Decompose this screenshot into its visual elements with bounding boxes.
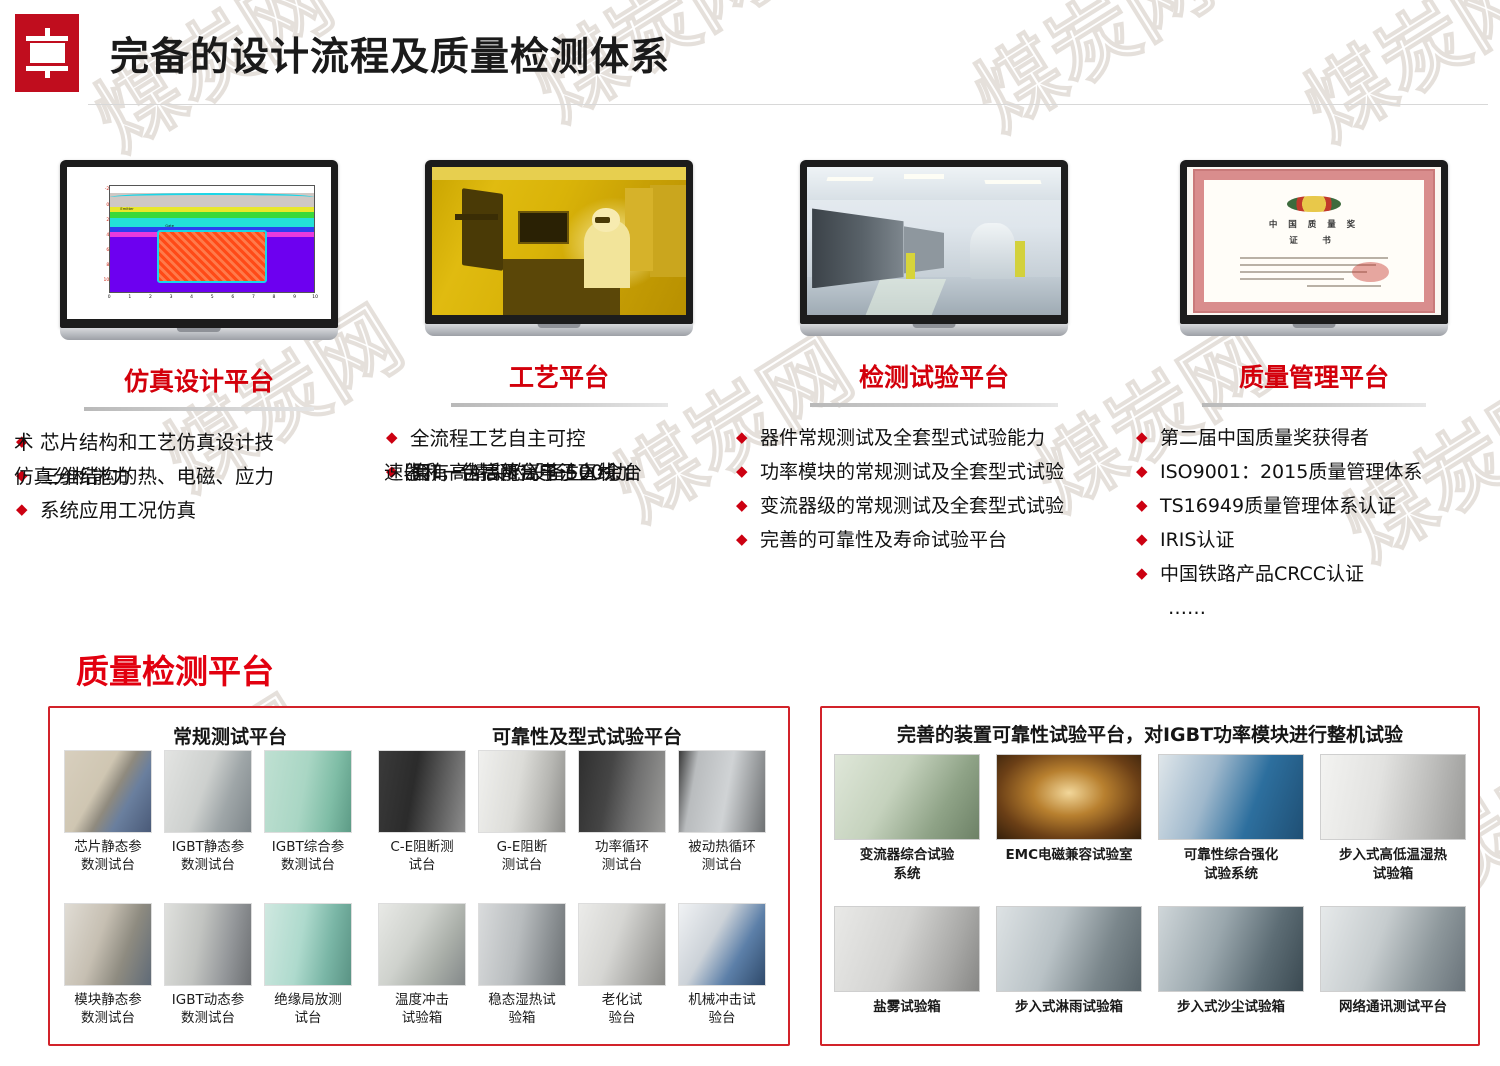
thumbnail-cell[interactable]: 变流器综合试验 系统 — [834, 754, 980, 884]
thumbnail-cell[interactable]: 稳态湿热试 验箱 — [478, 903, 566, 1027]
thumbnail-cell[interactable]: 绝缘局放测 试台 — [264, 903, 352, 1027]
group-title-reliability-test: 可靠性及型式试验平台 — [402, 722, 772, 749]
thumbnail-caption: 变流器综合试验 系统 — [834, 846, 980, 884]
bullet-item: TS16949质量管理体系认证 — [1134, 491, 1494, 522]
thumbnail-caption: 老化试 验台 — [578, 991, 666, 1027]
igbt-dynamic-parameter-test-bench[interactable] — [164, 903, 252, 986]
panel-device-reliability-right: 完善的装置可靠性试验平台，对IGBT功率模块进行整机试验 变流器综合试验 系统 … — [820, 706, 1480, 1046]
bullet-item: 系统应用工况仿真 — [14, 495, 384, 526]
test-lab-corridor-photo — [807, 167, 1061, 315]
column-title-test: 检测试验平台 — [734, 358, 1134, 394]
laptop-lid: 中 国 质 量 奖 证 书 — [1180, 160, 1448, 324]
chip-static-parameter-test-bench[interactable] — [64, 750, 152, 833]
thumbnail-caption: 稳态湿热试 验箱 — [478, 991, 566, 1027]
steady-damp-heat-test-chamber[interactable] — [478, 903, 566, 986]
thumbnail-caption: 步入式高低温湿热 试验箱 — [1320, 846, 1466, 884]
bullet-item: 全流程工艺自主可控 — [384, 423, 734, 454]
thumbnail-caption: 可靠性综合强化 试验系统 — [1158, 846, 1304, 884]
slide-header: 完备的设计流程及质量检测体系 — [0, 0, 1500, 112]
thumbnail-row-4: 盐雾试验箱 步入式淋雨试验箱 步入式沙尘试验箱 网络通讯测试平台 — [834, 906, 1466, 1017]
bullet-item: 完善的可靠性及寿命试验平台 — [734, 525, 1134, 556]
page-title: 完备的设计流程及质量检测体系 — [110, 26, 670, 82]
bullet-item-ellipsis: …… — [1134, 593, 1494, 624]
bullet-list-test: 器件常规测试及全套型式试验能力 功率模块的常规测试及全套型式试验 变流器级的常规… — [734, 423, 1134, 556]
certificate-seal-icon — [1287, 196, 1340, 213]
column-simulation-platform: -202 468 10 Emitter G — [14, 160, 384, 529]
laptop-mockup-simulation: -202 468 10 Emitter G — [60, 160, 338, 340]
column-divider — [1202, 403, 1425, 407]
thumbnail-cell[interactable]: 网络通讯测试平台 — [1320, 906, 1466, 1017]
header-divider — [88, 104, 1488, 105]
tcad-plot-area: Emitter Gate — [109, 185, 315, 293]
slide-root: 煤炭网 煤炭网 煤炭网 煤炭网 煤炭网 煤炭网 煤炭网 煤炭网 煤炭网 煤炭网 … — [0, 0, 1500, 1066]
thumbnail-caption: 功率循环 测试台 — [578, 838, 666, 874]
bullet-item-cont: 速器和一台高能离子注入机 — [384, 457, 734, 488]
thumbnail-cell[interactable]: 功率循环 测试台 — [578, 750, 666, 874]
thumbnail-caption: G-E阻断 测试台 — [478, 838, 566, 874]
column-title-simulation: 仿真设计平台 — [14, 362, 384, 398]
laptop-lid — [425, 160, 693, 324]
thumbnail-caption: 温度冲击 试验箱 — [378, 991, 466, 1027]
thumbnail-caption: IGBT动态参 数测试台 — [164, 991, 252, 1027]
panel-quality-testing-left: 常规测试平台 可靠性及型式试验平台 芯片静态参 数测试台 IGBT静态参 数测试… — [48, 706, 790, 1046]
tcad-simulation-screenshot: -202 468 10 Emitter G — [67, 167, 331, 319]
bullet-list-quality: 第二届中国质量奖获得者 ISO9001：2015质量管理体系 TS16949质量… — [1134, 423, 1494, 624]
laptop-base — [425, 324, 693, 336]
china-quality-award-certificate: 中 国 质 量 奖 证 书 — [1187, 167, 1441, 315]
thumbnail-cell[interactable]: IGBT静态参 数测试台 — [164, 750, 252, 874]
crrc-logo — [15, 14, 79, 92]
walk-in-rain-test-chamber[interactable] — [996, 906, 1142, 992]
thumbnail-row-1: 芯片静态参 数测试台 IGBT静态参 数测试台 IGBT综合参 数测试台 C-E… — [64, 750, 766, 874]
thumbnail-row-2: 模块静态参 数测试台 IGBT动态参 数测试台 绝缘局放测 试台 温度冲击 试验… — [64, 903, 766, 1027]
ce-blocking-test-bench[interactable] — [378, 750, 466, 833]
thumbnail-cell[interactable]: 老化试 验台 — [578, 903, 666, 1027]
column-test-platform: 检测试验平台 器件常规测试及全套型式试验能力 功率模块的常规测试及全套型式试验 … — [734, 160, 1134, 559]
thumbnail-cell[interactable]: 步入式沙尘试验箱 — [1158, 906, 1304, 1017]
bullet-item: 第二届中国质量奖获得者 — [1134, 423, 1494, 454]
bullet-item: 器件常规测试及全套型式试验能力 — [734, 423, 1134, 454]
thumbnail-cell[interactable]: 可靠性综合强化 试验系统 — [1158, 754, 1304, 884]
laptop-mockup-process — [425, 160, 693, 336]
thumbnail-caption: 芯片静态参 数测试台 — [64, 838, 152, 874]
thumbnail-cell[interactable]: 被动热循环 测试台 — [678, 750, 766, 874]
power-cycling-test-bench[interactable] — [578, 750, 666, 833]
thumbnail-cell[interactable]: IGBT综合参 数测试台 — [264, 750, 352, 874]
mechanical-shock-test-bench[interactable] — [678, 903, 766, 986]
bullet-item: 中国铁路产品CRCC认证 — [1134, 559, 1494, 590]
panel-right-title: 完善的装置可靠性试验平台，对IGBT功率模块进行整机试验 — [822, 708, 1478, 747]
thumbnail-cell[interactable]: IGBT动态参 数测试台 — [164, 903, 252, 1027]
thumbnail-cell[interactable]: 步入式高低温湿热 试验箱 — [1320, 754, 1466, 884]
module-static-parameter-test-bench[interactable] — [64, 903, 152, 986]
thumbnail-cell[interactable]: 芯片静态参 数测试台 — [64, 750, 152, 874]
passive-thermal-cycling-test-bench[interactable] — [678, 750, 766, 833]
bullet-item-cont: 术 — [14, 427, 384, 458]
thumbnail-cell[interactable]: C-E阻断测 试台 — [378, 750, 466, 874]
thumbnail-cell[interactable]: 温度冲击 试验箱 — [378, 903, 466, 1027]
thumbnail-caption: 绝缘局放测 试台 — [264, 991, 352, 1027]
thermal-shock-test-chamber[interactable] — [378, 903, 466, 986]
bullet-list-simulation: 芯片结构和工艺仿真设计技 术 三维结构的热、电磁、应力 仿真分析能力 系统应用工… — [14, 427, 384, 526]
thumbnail-caption: 步入式淋雨试验箱 — [996, 998, 1142, 1017]
igbt-static-parameter-test-bench[interactable] — [164, 750, 252, 833]
certificate-frame: 中 国 质 量 奖 证 书 — [1195, 171, 1434, 310]
column-process-platform: 工艺平台 全流程工艺自主可控 拥有高精尖的设备500余台 （套），包括两台电子直… — [384, 160, 734, 491]
crrc-logo-glyph — [24, 28, 70, 78]
bullet-list-process: 全流程工艺自主可控 拥有高精尖的设备500余台 （套），包括两台电子直线加 速器… — [384, 423, 734, 488]
laptop-base — [1180, 324, 1448, 336]
column-divider — [84, 407, 313, 411]
walk-in-temperature-humidity-chamber[interactable] — [1320, 754, 1466, 840]
thumbnail-caption: C-E阻断测 试台 — [378, 838, 466, 874]
column-title-process: 工艺平台 — [384, 358, 734, 394]
thumbnail-cell[interactable]: 模块静态参 数测试台 — [64, 903, 152, 1027]
thumbnail-caption: 盐雾试验箱 — [834, 998, 980, 1017]
laptop-screen: -202 468 10 Emitter G — [67, 167, 331, 319]
thumbnail-caption: 模块静态参 数测试台 — [64, 991, 152, 1027]
thumbnail-caption: 步入式沙尘试验箱 — [1158, 998, 1304, 1017]
certificate-red-stamp-icon — [1352, 262, 1390, 283]
laptop-screen — [432, 167, 686, 315]
thumbnail-cell[interactable]: G-E阻断 测试台 — [478, 750, 566, 874]
cleanroom-photo — [432, 167, 686, 315]
column-divider — [451, 403, 668, 407]
thumbnail-caption: IGBT静态参 数测试台 — [164, 838, 252, 874]
laptop-screen: 中 国 质 量 奖 证 书 — [1187, 167, 1441, 315]
bullet-item: IRIS认证 — [1134, 525, 1494, 556]
tcad-gate-region — [157, 230, 267, 283]
column-title-quality: 质量管理平台 — [1134, 358, 1494, 394]
laptop-screen — [807, 167, 1061, 315]
ge-blocking-test-bench[interactable] — [478, 750, 566, 833]
converter-integrated-test-system[interactable] — [834, 754, 980, 840]
bullet-item: ISO9001：2015质量管理体系 — [1134, 457, 1494, 488]
laptop-lid — [800, 160, 1068, 324]
thumbnail-row-3: 变流器综合试验 系统 EMC电磁兼容试验室 可靠性综合强化 试验系统 步入式高低… — [834, 754, 1466, 884]
certificate-line-2: 证 书 — [1289, 234, 1339, 246]
thumbnail-cell[interactable]: 机械冲击试 验台 — [678, 903, 766, 1027]
tcad-x-axis: 012 345 678 910 — [109, 295, 315, 309]
emc-anechoic-chamber[interactable] — [996, 754, 1142, 840]
certificate-line-1: 中 国 质 量 奖 — [1269, 218, 1359, 230]
thumbnail-cell[interactable]: EMC电磁兼容试验室 — [996, 754, 1142, 884]
group-title-routine-test: 常规测试平台 — [62, 722, 398, 749]
reliability-integrated-stress-test-system[interactable] — [1158, 754, 1304, 840]
laptop-lid: -202 468 10 Emitter G — [60, 160, 338, 328]
bullet-item: 功率模块的常规测试及全套型式试验 — [734, 457, 1134, 488]
section-title-quality-testing: 质量检测平台 — [76, 645, 274, 693]
column-divider — [810, 403, 1058, 407]
thumbnail-cell[interactable]: 步入式淋雨试验箱 — [996, 906, 1142, 1017]
salt-spray-test-chamber[interactable] — [834, 906, 980, 992]
insulation-partial-discharge-test-bench[interactable] — [264, 903, 352, 986]
thumbnail-caption: IGBT综合参 数测试台 — [264, 838, 352, 874]
bullet-item-cont: 仿真分析能力 — [14, 461, 384, 492]
thumbnail-caption: 网络通讯测试平台 — [1320, 998, 1466, 1017]
laptop-base — [60, 328, 338, 340]
column-quality-platform: 中 国 质 量 奖 证 书 质量管理平 — [1134, 160, 1494, 627]
laptop-mockup-test — [800, 160, 1068, 336]
tcad-y-axis: -202 468 10 — [88, 185, 109, 293]
network-communication-test-platform[interactable] — [1320, 906, 1466, 992]
thumbnail-caption: 机械冲击试 验台 — [678, 991, 766, 1027]
aging-test-bench[interactable] — [578, 903, 666, 986]
thumbnail-caption: EMC电磁兼容试验室 — [996, 846, 1142, 865]
thumbnail-cell[interactable]: 盐雾试验箱 — [834, 906, 980, 1017]
thumbnail-caption: 被动热循环 测试台 — [678, 838, 766, 874]
laptop-base — [800, 324, 1068, 336]
igbt-comprehensive-parameter-test-bench[interactable] — [264, 750, 352, 833]
bullet-item: 变流器级的常规测试及全套型式试验 — [734, 491, 1134, 522]
laptop-mockup-quality: 中 国 质 量 奖 证 书 — [1180, 160, 1448, 336]
walk-in-dust-test-chamber[interactable] — [1158, 906, 1304, 992]
